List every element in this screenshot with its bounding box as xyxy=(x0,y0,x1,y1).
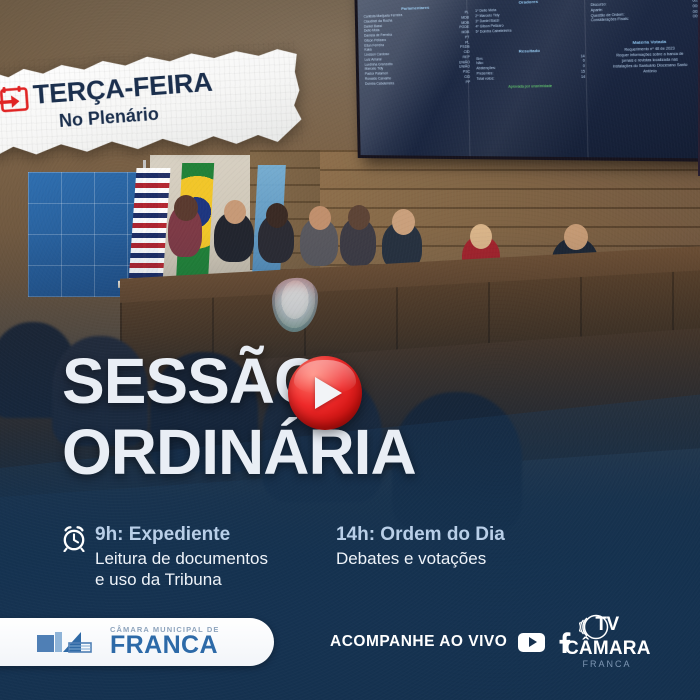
play-button-icon[interactable] xyxy=(288,356,362,430)
tv-camara-tv-text: TV xyxy=(595,614,618,635)
poster-canvas: 14/02/23 Parlamentares Cantista Marijuel… xyxy=(0,0,700,700)
camara-logo-panel[interactable]: CÂMARA MUNICIPAL DE FRANCA xyxy=(0,618,274,666)
schedule-section: 9h: Expediente Leitura de documentos e u… xyxy=(62,524,505,590)
voting-panel-parliamentarian-list: Cantista Marijuela FerreiraPLClaudinei d… xyxy=(364,10,471,86)
council-member-head xyxy=(174,195,198,221)
alarm-clock-icon xyxy=(62,526,86,552)
hero-title: SESSÃO ORDINÁRIA xyxy=(62,352,416,482)
tv-camara-logo-top: TV xyxy=(565,614,649,642)
schedule-item-afternoon: 14h: Ordem do Dia Debates e votações xyxy=(330,524,505,590)
voting-panel-timers-column: 14:13:00 Cronômetros Discurso:00:07:30Ap… xyxy=(590,0,700,154)
tv-camara-sub-text: FRANCA xyxy=(565,659,649,669)
camara-logo-text: CÂMARA MUNICIPAL DE FRANCA xyxy=(110,626,220,659)
council-member-head xyxy=(348,205,370,230)
schedule-item-morning: 9h: Expediente Leitura de documentos e u… xyxy=(62,524,268,590)
voting-panel-display: 14/02/23 Parlamentares Cantista Marijuel… xyxy=(354,0,700,162)
voting-panel-speaker-list: 1º Delio Mota2º Marcelo Tidy3º Daniel Ba… xyxy=(475,4,584,34)
hero-title-line-1: SESSÃO xyxy=(62,352,416,411)
schedule-description: Leitura de documentos e uso da Tribuna xyxy=(95,548,268,591)
voting-panel-parliamentarians-column: 14/02/23 Parlamentares Cantista Marijuel… xyxy=(363,0,472,152)
building-logo-icon xyxy=(36,627,100,657)
voting-panel-timer-list: Discurso:00:07:30Aparte:00:01:30Questão … xyxy=(591,0,700,24)
voting-panel-result-status: Aprovada por unanimidade xyxy=(477,83,586,89)
voting-panel-speakers-column: Oradores 1º Delio Mota2º Marcelo Tidy3º … xyxy=(475,0,587,153)
hero-title-line-2: ORDINÁRIA xyxy=(62,423,416,482)
voting-panel-parliamentarian-row: Dointra CabeleireiraPP xyxy=(365,80,470,87)
live-links: ACOMPANHE AO VIVO xyxy=(330,631,572,653)
schedule-description: Debates e votações xyxy=(336,548,505,569)
schedule-time-label: 14h: Ordem do Dia xyxy=(336,524,505,546)
voting-panel-screen: 14/02/23 Parlamentares Cantista Marijuel… xyxy=(357,0,700,158)
tv-camara-logo[interactable]: TV CÂMARA FRANCA xyxy=(565,614,649,669)
calendar-arrow-icon xyxy=(0,84,30,113)
council-member-head xyxy=(224,200,246,224)
voting-panel-result-row: Total votos:14 xyxy=(477,74,586,81)
camara-logo-main-line: FRANCA xyxy=(110,633,220,658)
play-triangle xyxy=(315,377,342,409)
schedule-time-label: 9h: Expediente xyxy=(95,524,268,546)
voting-panel-result-list: Sim:14Não:0Abstenções:0Presentes:15Total… xyxy=(476,54,585,82)
council-member-head xyxy=(309,206,331,230)
youtube-play-triangle xyxy=(529,637,537,647)
voting-panel-voted-matter: Requerimento nº 48 de 2023 Requer inform… xyxy=(592,45,700,75)
council-member-head xyxy=(266,203,288,228)
youtube-icon[interactable] xyxy=(518,633,545,652)
live-label: ACOMPANHE AO VIVO xyxy=(330,633,507,651)
